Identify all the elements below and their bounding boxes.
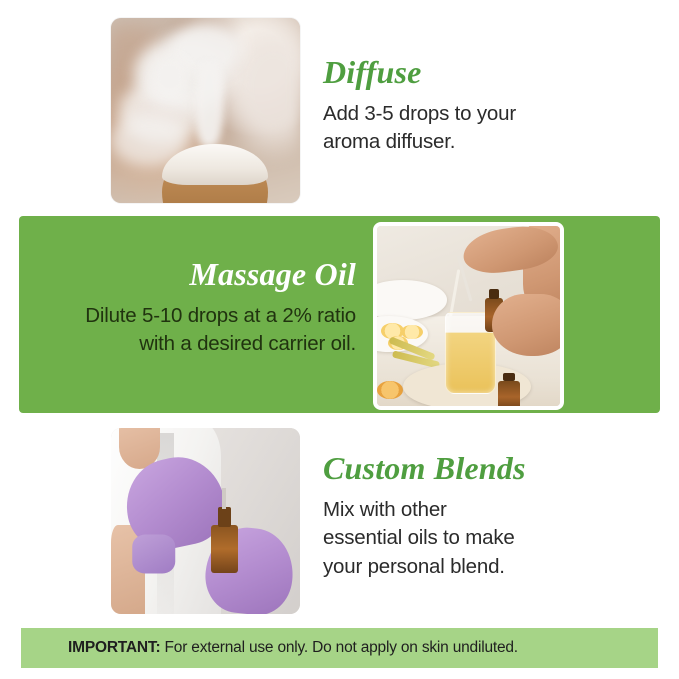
custom-blends-photo [111,428,300,614]
custom-blends-heading: Custom Blends [323,452,663,486]
massage-oil-scene [377,226,560,406]
citrus-slice-icon [377,381,403,399]
custom-blends-body-line: Mix with other [323,496,663,525]
massage-oil-body-line: Dilute 5-10 drops at a 2% ratio [20,302,356,331]
diffuse-body: Add 3-5 drops to your aroma diffuser. [323,100,653,157]
custom-blends-body-line: essential oils to make [323,524,663,553]
amber-dropper-bottle-icon [211,525,237,573]
hand-holding-bottle [492,294,564,355]
important-notice-text: IMPORTANT: For external use only. Do not… [68,639,518,657]
massage-oil-heading: Massage Oil [20,258,356,292]
massage-oil-text-block: Massage Oil Dilute 5-10 drops at a 2% ra… [20,258,356,359]
important-notice-bar: IMPORTANT: For external use only. Do not… [21,628,658,668]
diffuser-photo [111,18,300,203]
important-label: IMPORTANT: [68,639,160,656]
diffuse-body-line: aroma diffuser. [323,128,653,157]
diffuse-heading: Diffuse [323,56,653,90]
essential-oil-usage-infographic: Diffuse Add 3-5 drops to your aroma diff… [0,0,679,679]
massage-oil-body: Dilute 5-10 drops at a 2% ratio with a d… [20,302,356,359]
important-body: For external use only. Do not apply on s… [160,639,517,656]
custom-blends-text-block: Custom Blends Mix with other essential o… [323,452,663,582]
diffuse-body-line: Add 3-5 drops to your [323,100,653,129]
massage-oil-body-line: with a desired carrier oil. [20,330,356,359]
diffuse-text-block: Diffuse Add 3-5 drops to your aroma diff… [323,56,653,157]
custom-blends-body-line: your personal blend. [323,553,663,582]
massage-oil-photo [373,222,564,410]
custom-blends-scene [111,428,300,614]
amber-bottle-icon [498,381,520,410]
mist-plume-icon [194,62,224,147]
diffuser-scene [111,18,300,203]
custom-blends-body: Mix with other essential oils to make yo… [323,496,663,582]
